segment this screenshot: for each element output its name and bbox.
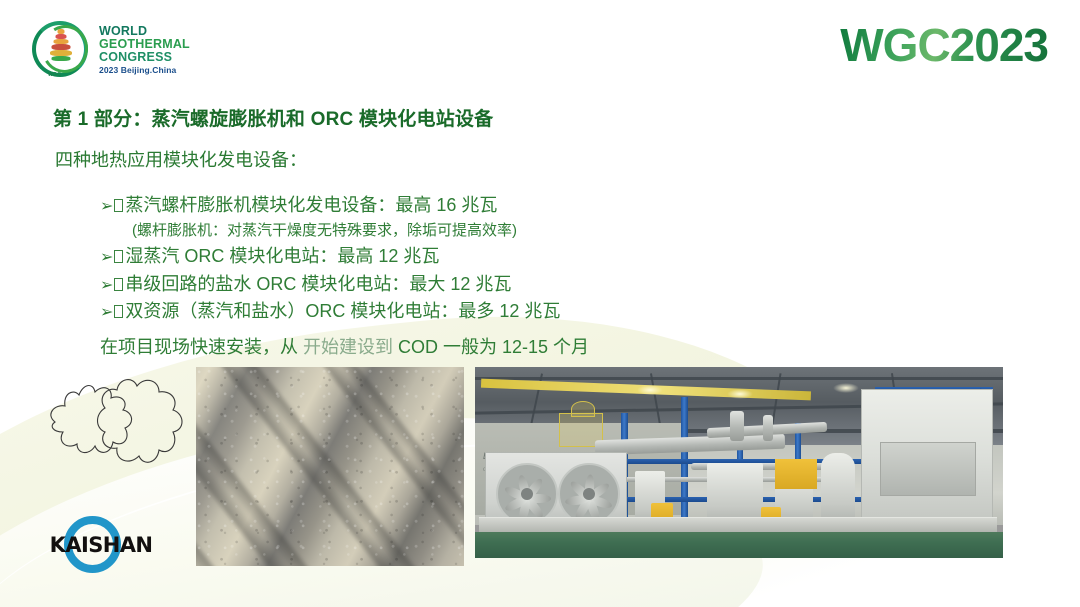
cooling-fan-icon bbox=[496, 463, 558, 525]
catwalk-hood bbox=[571, 401, 595, 417]
closing-text-part2: 开始建设到 bbox=[303, 337, 393, 357]
missing-glyph-box bbox=[114, 199, 123, 212]
slide-subtitle: 四种地热应用模块化发电设备： bbox=[55, 146, 307, 172]
bullet-arrow-icon: ➢ bbox=[100, 274, 113, 298]
bullet-arrow-icon: ➢ bbox=[100, 301, 113, 325]
kaishan-logo: KAISHAN bbox=[41, 514, 161, 576]
list-item: ➢ 湿蒸汽 ORC 模块化电站：最高 12 兆瓦 bbox=[100, 243, 860, 270]
congress-logo-line-4: 2023 Beijing.China bbox=[99, 66, 190, 75]
screw-rotor-photo bbox=[196, 367, 464, 566]
decorative-blob-doodles bbox=[33, 372, 188, 477]
bullet-text: 双资源（蒸汽和盐水）ORC 模块化电站：最多 12 兆瓦 bbox=[125, 298, 560, 325]
congress-emblem-icon: WGC bbox=[30, 19, 92, 81]
list-item: ➢ 蒸汽螺杆膨胀机模块化发电设备：最高 16 兆瓦 (螺杆膨胀机：对蒸汽干燥度无… bbox=[100, 192, 860, 243]
generator-enclosure bbox=[861, 389, 993, 523]
closing-text-part3: COD 一般为 12-15 个月 bbox=[393, 337, 589, 357]
blob-outline-icon bbox=[33, 372, 188, 477]
enclosure-access-panel bbox=[880, 442, 976, 496]
world-geothermal-congress-logo: WGC WORLD GEOTHERMAL CONGRESS 2023 Beiji… bbox=[30, 14, 180, 86]
congress-logo-line-3: CONGRESS bbox=[99, 51, 190, 64]
bullet-arrow-icon: ➢ bbox=[100, 195, 113, 219]
slide-title: 第 1 部分：蒸汽螺旋膨胀机和 ORC 模块化电站设备 bbox=[53, 104, 493, 131]
bullet-text: 蒸汽螺杆膨胀机模块化发电设备：最高 16 兆瓦 bbox=[125, 192, 497, 219]
modular-power-plant-photo: Energy olutions bbox=[475, 367, 1003, 558]
list-item: ➢ 双资源（蒸汽和盐水）ORC 模块化电站：最多 12 兆瓦 bbox=[100, 298, 860, 325]
congress-logo-text: WORLD GEOTHERMAL CONGRESS 2023 Beijing.C… bbox=[99, 25, 190, 75]
plant-floor bbox=[475, 532, 1003, 558]
bullet-row: ➢ 湿蒸汽 ORC 模块化电站：最高 12 兆瓦 bbox=[100, 243, 860, 270]
ceiling-light bbox=[637, 385, 663, 395]
bullet-row: ➢ 双资源（蒸汽和盐水）ORC 模块化电站：最多 12 兆瓦 bbox=[100, 298, 860, 325]
ceiling-truss bbox=[475, 377, 1003, 380]
rotor-texture bbox=[196, 367, 464, 566]
bullet-arrow-icon: ➢ bbox=[100, 246, 113, 270]
process-riser bbox=[763, 415, 773, 441]
bullet-row: ➢ 串级回路的盐水 ORC 模块化电站：最大 12 兆瓦 bbox=[100, 271, 860, 298]
bullet-text: 湿蒸汽 ORC 模块化电站：最高 12 兆瓦 bbox=[125, 243, 439, 270]
list-item: ➢ 串级回路的盐水 ORC 模块化电站：最大 12 兆瓦 bbox=[100, 271, 860, 298]
bullet-text: 串级回路的盐水 ORC 模块化电站：最大 12 兆瓦 bbox=[125, 271, 511, 298]
wgc2023-wordmark: WGC2023 bbox=[840, 18, 1048, 72]
emblem-pagoda-icon bbox=[50, 29, 72, 65]
missing-glyph-box bbox=[114, 305, 123, 318]
yellow-equipment-box bbox=[775, 459, 817, 489]
closing-text-part1: 在项目现场快速安装，从 bbox=[100, 337, 303, 357]
bullet-note: (螺杆膨胀机：对蒸汽干燥度无特殊要求，除垢可提高效率) bbox=[132, 219, 860, 243]
cooling-fan-icon bbox=[558, 463, 620, 525]
missing-glyph-box bbox=[114, 278, 123, 291]
process-vessel bbox=[707, 463, 763, 525]
kaishan-wordmark: KAISHAN bbox=[41, 533, 161, 557]
bullet-row: ➢ 蒸汽螺杆膨胀机模块化发电设备：最高 16 兆瓦 bbox=[100, 192, 860, 219]
bullet-list: ➢ 蒸汽螺杆膨胀机模块化发电设备：最高 16 兆瓦 (螺杆膨胀机：对蒸汽干燥度无… bbox=[100, 192, 860, 325]
missing-glyph-box bbox=[114, 250, 123, 263]
slide-canvas: WGC WORLD GEOTHERMAL CONGRESS 2023 Beiji… bbox=[0, 0, 1080, 607]
closing-line: 在项目现场快速安装，从 开始建设到 COD 一般为 12-15 个月 bbox=[100, 333, 589, 359]
emblem-wgc-label: WGC bbox=[48, 72, 61, 78]
ceiling-light bbox=[833, 383, 859, 393]
separator-vessel bbox=[821, 453, 855, 525]
process-riser bbox=[730, 411, 744, 441]
ceiling-light bbox=[727, 389, 753, 399]
congress-logo-line-1: WORLD bbox=[99, 25, 190, 38]
